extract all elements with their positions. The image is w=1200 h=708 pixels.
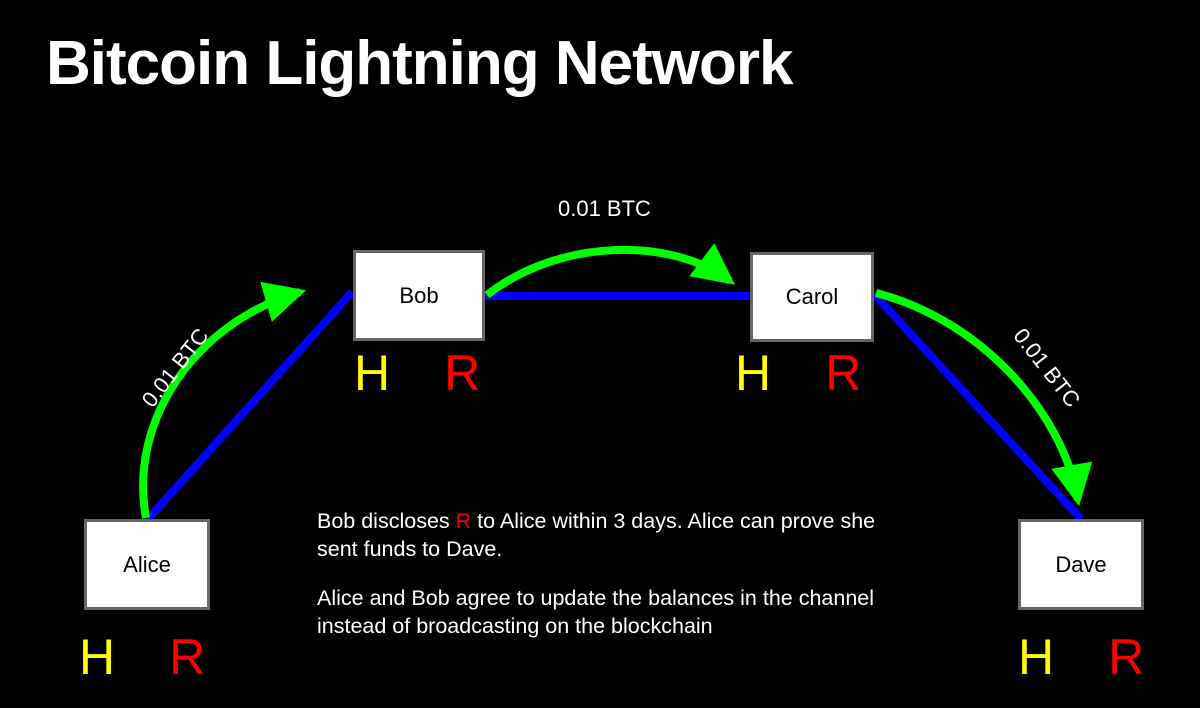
- hash-label-carol: H: [735, 348, 771, 398]
- note-1-text-before: Bob discloses: [317, 509, 456, 533]
- hashlock-group-bob: H R: [354, 348, 480, 398]
- preimage-label-bob: R: [444, 348, 480, 398]
- note-paragraph-1: Bob discloses R to Alice within 3 days. …: [317, 508, 917, 563]
- edge-label-carol-dave: 0.01 BTC: [1008, 323, 1086, 412]
- payment-arrow-alice-bob: [143, 292, 300, 518]
- node-carol[interactable]: Carol: [750, 252, 874, 342]
- spacer: [115, 632, 169, 682]
- spacer: [390, 348, 444, 398]
- hashlock-group-carol: H R: [735, 348, 861, 398]
- edge-label-alice-bob: 0.01 BTC: [137, 323, 215, 412]
- spacer: [1054, 632, 1108, 682]
- node-bob-label: Bob: [399, 283, 438, 309]
- page-title: Bitcoin Lightning Network: [46, 28, 793, 99]
- hash-label-dave: H: [1018, 632, 1054, 682]
- note-paragraph-2: Alice and Bob agree to update the balanc…: [317, 585, 917, 640]
- node-carol-label: Carol: [786, 284, 839, 310]
- hash-label-alice: H: [79, 632, 115, 682]
- preimage-label-alice: R: [169, 632, 205, 682]
- node-alice[interactable]: Alice: [84, 519, 210, 610]
- note-1-preimage-token: R: [456, 509, 472, 533]
- node-dave-label: Dave: [1055, 552, 1106, 578]
- preimage-label-dave: R: [1108, 632, 1144, 682]
- edge-label-bob-carol: 0.01 BTC: [558, 196, 651, 222]
- preimage-label-carol: R: [825, 348, 861, 398]
- hashlock-group-dave: H R: [1018, 632, 1144, 682]
- payment-arrow-bob-carol: [487, 250, 730, 295]
- node-bob[interactable]: Bob: [353, 250, 485, 341]
- explanatory-notes: Bob discloses R to Alice within 3 days. …: [317, 508, 917, 640]
- diagram-canvas: Bitcoin Lightning Network Alice Bob Caro…: [0, 0, 1200, 708]
- hash-label-bob: H: [354, 348, 390, 398]
- node-dave[interactable]: Dave: [1018, 519, 1144, 610]
- channel-line-alice-bob: [148, 292, 352, 519]
- payment-arrow-carol-dave: [876, 293, 1078, 500]
- channel-line-carol-dave: [874, 294, 1081, 519]
- spacer: [771, 348, 825, 398]
- node-alice-label: Alice: [123, 552, 171, 578]
- hashlock-group-alice: H R: [79, 632, 205, 682]
